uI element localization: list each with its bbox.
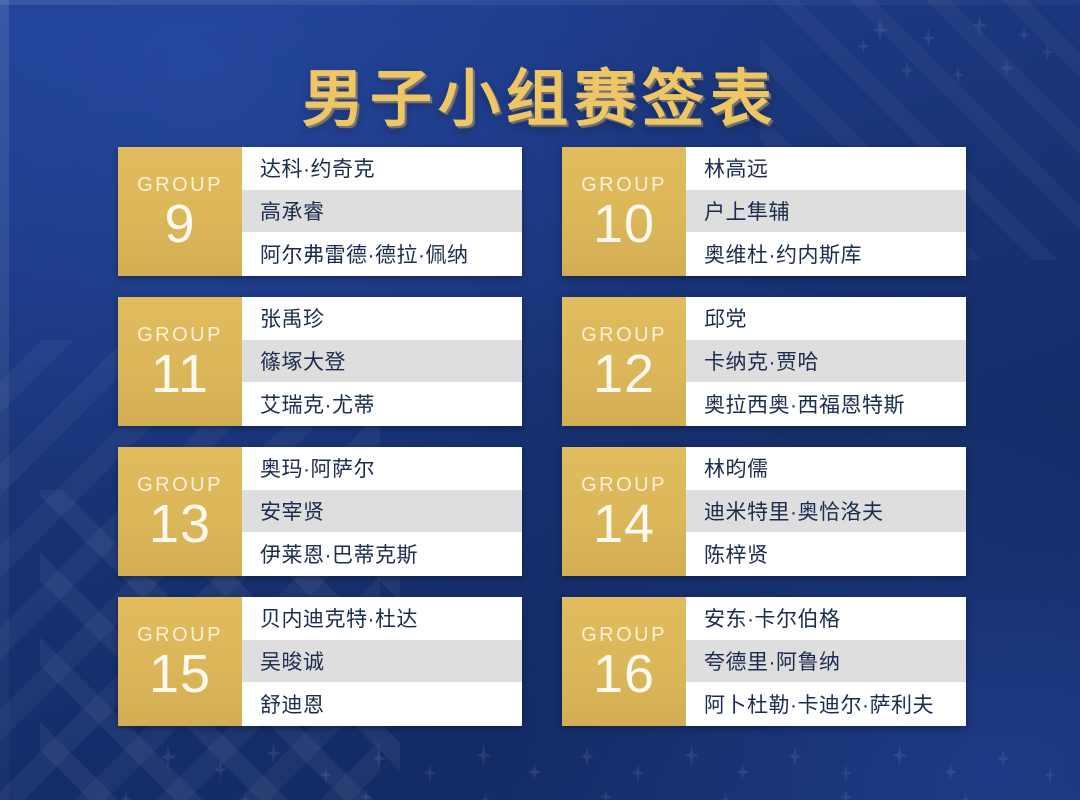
sparkle-icon bbox=[476, 744, 491, 767]
player-list: 达科·约奇克高承睿阿尔弗雷德·德拉·佩纳 bbox=[242, 147, 522, 276]
player-list: 奥玛·阿萨尔安宰贤伊莱恩·巴蒂克斯 bbox=[242, 447, 522, 576]
group-card[interactable]: GROUP12邱党卡纳克·贾哈奥拉西奥·西福恩特斯 bbox=[562, 297, 966, 426]
sparkle-icon bbox=[996, 748, 1010, 769]
sparkle-icon bbox=[720, 792, 731, 800]
sparkle-icon bbox=[892, 744, 907, 767]
player-row[interactable]: 阿尔弗雷德·德拉·佩纳 bbox=[242, 233, 522, 276]
sparkle-icon bbox=[240, 792, 251, 800]
group-label: GROUP bbox=[137, 325, 223, 345]
player-list: 林昀儒迪米特里·奥恰洛夫陈梓贤 bbox=[686, 447, 966, 576]
group-number-block: GROUP11 bbox=[118, 297, 242, 426]
player-list: 安东·卡尔伯格夸德里·阿鲁纳阿卜杜勒·卡迪尔·萨利夫 bbox=[686, 597, 966, 726]
sparkle-icon bbox=[120, 790, 132, 800]
player-row[interactable]: 篠塚大登 bbox=[242, 340, 522, 383]
sparkle-icon bbox=[1044, 766, 1056, 784]
group-label: GROUP bbox=[581, 325, 667, 345]
group-card[interactable]: GROUP11张禹珍篠塚大登艾瑞克·尤蒂 bbox=[118, 297, 522, 426]
group-number-block: GROUP12 bbox=[562, 297, 686, 426]
sparkle-icon bbox=[736, 762, 749, 782]
group-number-block: GROUP15 bbox=[118, 597, 242, 726]
player-row[interactable]: 林昀儒 bbox=[686, 447, 966, 490]
player-row[interactable]: 伊莱恩·巴蒂克斯 bbox=[242, 533, 522, 576]
player-row[interactable]: 高承睿 bbox=[242, 190, 522, 233]
group-label: GROUP bbox=[137, 475, 223, 495]
player-row[interactable]: 奥维杜·约内斯库 bbox=[686, 233, 966, 276]
page-title-container: 男子小组赛签表 bbox=[0, 48, 1080, 138]
group-number: 12 bbox=[593, 347, 655, 402]
top-edge-highlight bbox=[0, 0, 1080, 5]
player-row[interactable]: 迪米特里·奥恰洛夫 bbox=[686, 490, 966, 533]
group-number: 15 bbox=[149, 647, 211, 702]
sparkle-icon bbox=[840, 788, 852, 800]
player-row[interactable]: 邱党 bbox=[686, 297, 966, 340]
sparkle-icon bbox=[872, 18, 888, 42]
sparkle-icon bbox=[480, 792, 491, 800]
sparkle-icon bbox=[840, 764, 852, 782]
player-row[interactable]: 达科·约奇克 bbox=[242, 147, 522, 190]
player-row[interactable]: 阿卜杜勒·卡迪尔·萨利夫 bbox=[686, 683, 966, 726]
group-number-block: GROUP14 bbox=[562, 447, 686, 576]
sparkle-icon bbox=[632, 764, 644, 782]
sparkle-icon bbox=[372, 748, 386, 769]
group-grid: GROUP9达科·约奇克高承睿阿尔弗雷德·德拉·佩纳GROUP10林高远户上隼辅… bbox=[118, 147, 966, 726]
group-number: 16 bbox=[593, 647, 655, 702]
group-card[interactable]: GROUP9达科·约奇克高承睿阿尔弗雷德·德拉·佩纳 bbox=[118, 147, 522, 276]
group-label: GROUP bbox=[581, 175, 667, 195]
sparkle-icon bbox=[960, 792, 971, 800]
group-number: 13 bbox=[149, 497, 211, 552]
player-row[interactable]: 吴晙诚 bbox=[242, 640, 522, 683]
group-label: GROUP bbox=[581, 625, 667, 645]
sparkle-icon bbox=[360, 788, 372, 800]
group-number: 14 bbox=[593, 497, 655, 552]
group-card[interactable]: GROUP15贝内迪克特·杜达吴晙诚舒迪恩 bbox=[118, 597, 522, 726]
sparkle-icon bbox=[160, 745, 176, 769]
player-row[interactable]: 陈梓贤 bbox=[686, 533, 966, 576]
player-row[interactable]: 奥拉西奥·西福恩特斯 bbox=[686, 383, 966, 426]
player-list: 张禹珍篠塚大登艾瑞克·尤蒂 bbox=[242, 297, 522, 426]
player-list: 林高远户上隼辅奥维杜·约内斯库 bbox=[686, 147, 966, 276]
group-label: GROUP bbox=[581, 475, 667, 495]
group-card[interactable]: GROUP10林高远户上隼辅奥维杜·约内斯库 bbox=[562, 147, 966, 276]
player-row[interactable]: 夸德里·阿鲁纳 bbox=[686, 640, 966, 683]
player-row[interactable]: 户上隼辅 bbox=[686, 190, 966, 233]
sparkle-icon bbox=[580, 746, 594, 767]
group-number-block: GROUP9 bbox=[118, 147, 242, 276]
group-number-block: GROUP10 bbox=[562, 147, 686, 276]
group-card[interactable]: GROUP14林昀儒迪米特里·奥恰洛夫陈梓贤 bbox=[562, 447, 966, 576]
player-list: 邱党卡纳克·贾哈奥拉西奥·西福恩特斯 bbox=[686, 297, 966, 426]
group-number: 10 bbox=[593, 197, 655, 252]
group-card[interactable]: GROUP16安东·卡尔伯格夸德里·阿鲁纳阿卜杜勒·卡迪尔·萨利夫 bbox=[562, 597, 966, 726]
sparkle-icon bbox=[684, 744, 699, 767]
sparkle-icon bbox=[424, 764, 436, 782]
sparkle-icon bbox=[972, 14, 987, 37]
group-number: 11 bbox=[151, 347, 209, 402]
group-label: GROUP bbox=[137, 625, 223, 645]
player-row[interactable]: 奥玛·阿萨尔 bbox=[242, 447, 522, 490]
group-number-block: GROUP13 bbox=[118, 447, 242, 576]
poster-root: 男子小组赛签表 GROUP9达科·约奇克高承睿阿尔弗雷德·德拉·佩纳GROUP1… bbox=[0, 0, 1080, 800]
sparkle-icon bbox=[1018, 26, 1030, 44]
group-card[interactable]: GROUP13奥玛·阿萨尔安宰贤伊莱恩·巴蒂克斯 bbox=[118, 447, 522, 576]
sparkle-icon bbox=[214, 760, 227, 780]
page-title: 男子小组赛签表 bbox=[302, 48, 778, 138]
sparkle-icon bbox=[600, 788, 612, 800]
sparkle-icon bbox=[788, 746, 802, 767]
group-label: GROUP bbox=[137, 175, 223, 195]
player-row[interactable]: 林高远 bbox=[686, 147, 966, 190]
sparkle-icon bbox=[320, 766, 332, 784]
sparkle-icon bbox=[922, 28, 935, 48]
sparkle-icon bbox=[528, 762, 541, 782]
player-row[interactable]: 安宰贤 bbox=[242, 490, 522, 533]
player-row[interactable]: 卡纳克·贾哈 bbox=[686, 340, 966, 383]
player-list: 贝内迪克特·杜达吴晙诚舒迪恩 bbox=[242, 597, 522, 726]
player-row[interactable]: 贝内迪克特·杜达 bbox=[242, 597, 522, 640]
sparkle-icon bbox=[266, 742, 281, 765]
sparkle-icon bbox=[944, 762, 957, 782]
player-row[interactable]: 舒迪恩 bbox=[242, 683, 522, 726]
player-row[interactable]: 艾瑞克·尤蒂 bbox=[242, 383, 522, 426]
group-number-block: GROUP16 bbox=[562, 597, 686, 726]
player-row[interactable]: 安东·卡尔伯格 bbox=[686, 597, 966, 640]
group-number: 9 bbox=[164, 197, 195, 252]
player-row[interactable]: 张禹珍 bbox=[242, 297, 522, 340]
